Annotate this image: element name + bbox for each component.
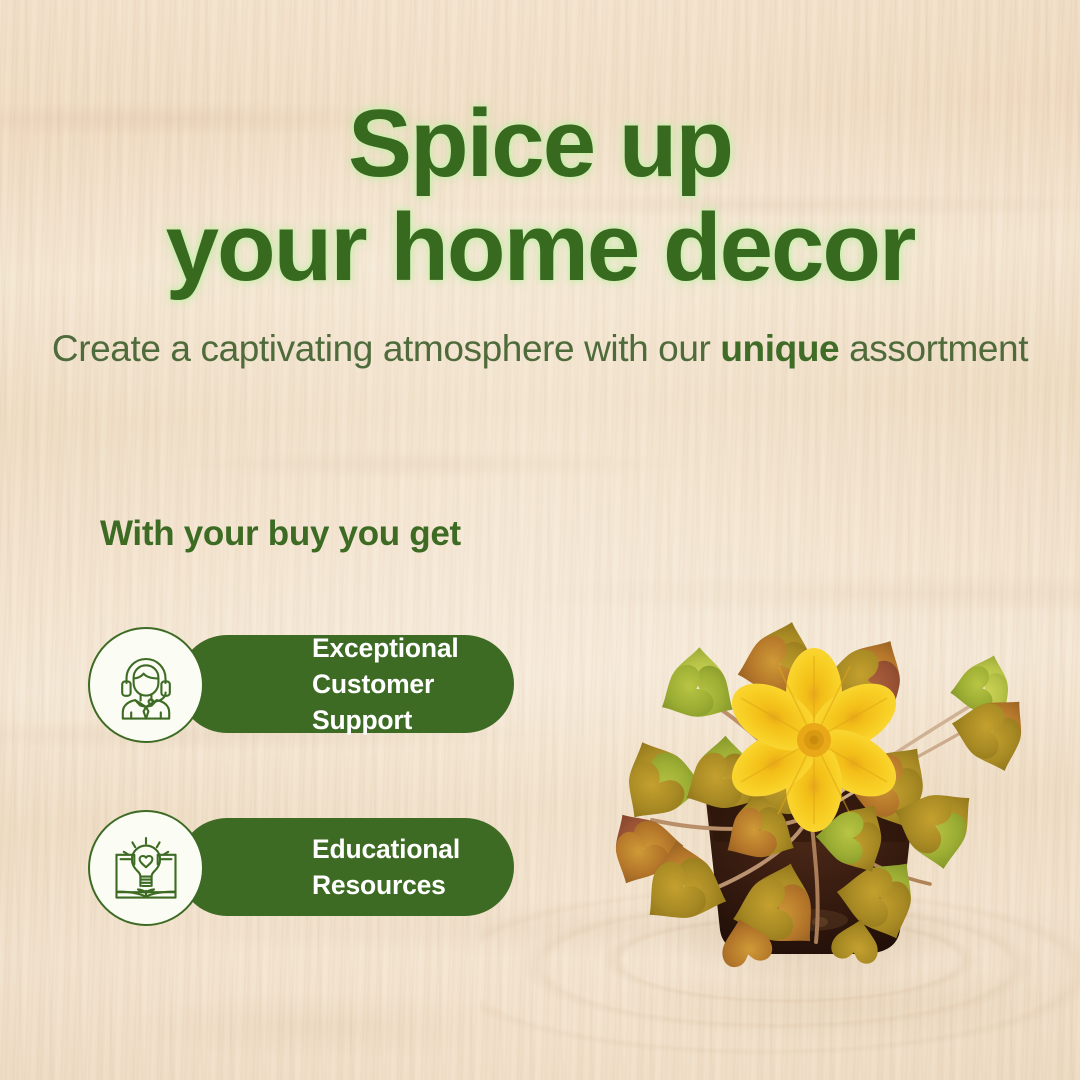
lightbulb-book-icon bbox=[108, 830, 184, 906]
benefit-item-customer-support[interactable]: Exceptional Customer Support bbox=[88, 627, 514, 743]
product-image-oxalis-plant bbox=[548, 482, 1060, 994]
benefit-label: Educational Resources bbox=[312, 831, 460, 903]
page-title: Spice up your home decor bbox=[0, 92, 1080, 300]
headline-line-1: Spice up bbox=[0, 92, 1080, 196]
benefit-icon-badge bbox=[88, 810, 204, 926]
benefit-pill: Educational Resources bbox=[178, 818, 514, 916]
headline-line-2: your home decor bbox=[0, 196, 1080, 300]
benefit-pill: Exceptional Customer Support bbox=[178, 635, 514, 733]
customer-support-headset-icon bbox=[109, 648, 183, 722]
benefits-heading: With your buy you get bbox=[100, 514, 461, 554]
poster-canvas: Spice up your home decor Create a captiv… bbox=[0, 0, 1080, 1080]
benefit-item-educational-resources[interactable]: Educational Resources bbox=[88, 810, 514, 926]
subtitle-emphasis: unique bbox=[720, 328, 839, 369]
subtitle-text-after: assortment bbox=[839, 328, 1028, 369]
subtitle-text-before: Create a captivating atmosphere with our bbox=[52, 328, 720, 369]
benefit-icon-badge bbox=[88, 627, 204, 743]
benefit-label: Exceptional Customer Support bbox=[312, 630, 514, 738]
subtitle: Create a captivating atmosphere with our… bbox=[0, 326, 1080, 372]
